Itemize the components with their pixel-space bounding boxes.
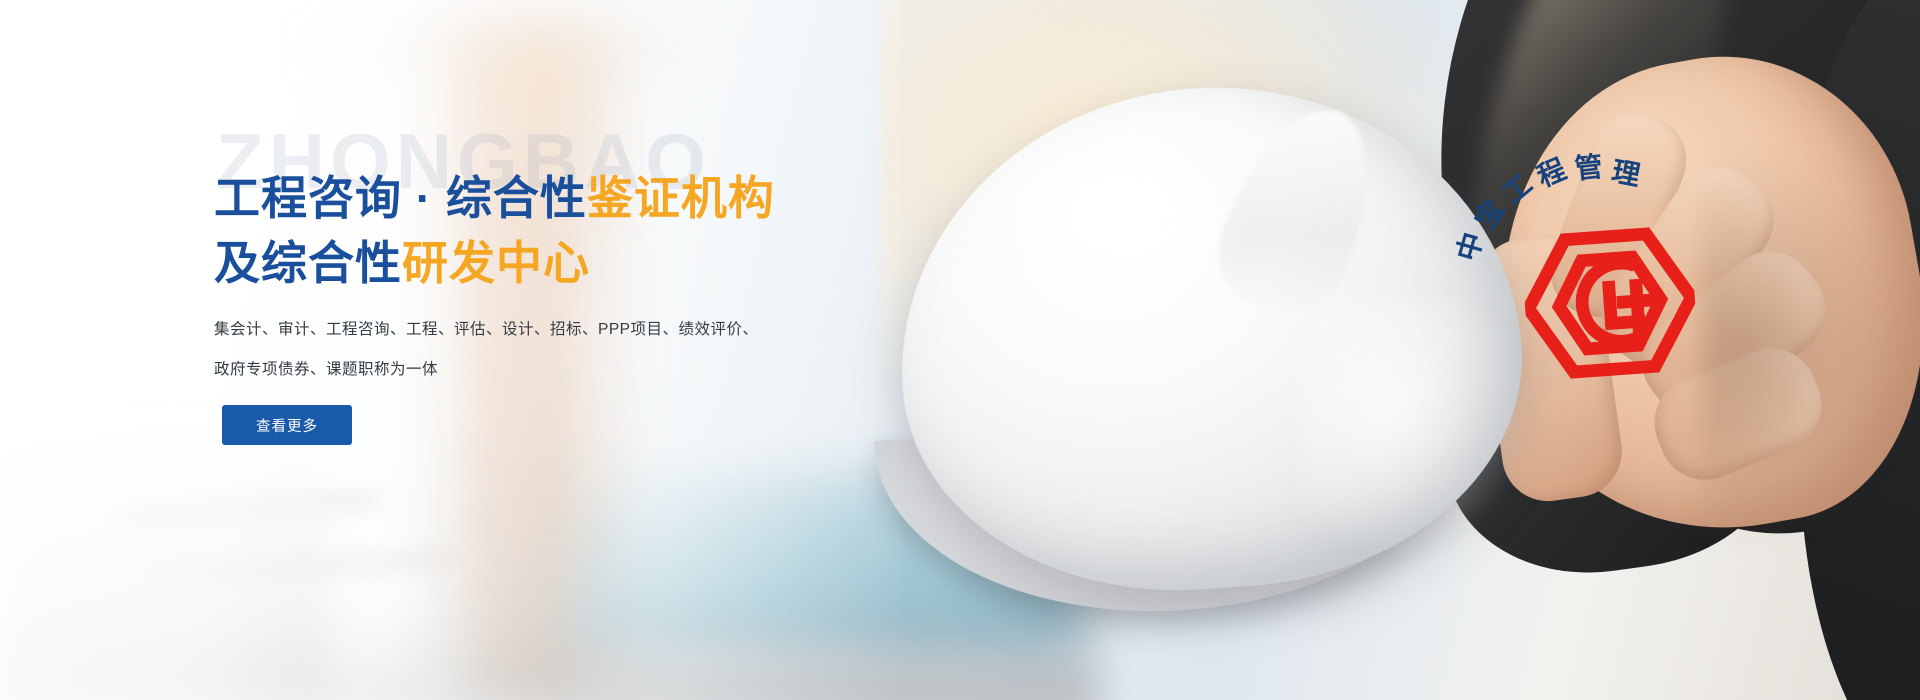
headline-line-1: 工程咨询 · 综合性鉴证机构 <box>214 166 775 231</box>
headline-line-1-primary: 工程咨询 · 综合性 <box>214 172 587 224</box>
description-line-2: 政府专项债券、课题职称为一体 <box>214 350 834 390</box>
headline-line-2-primary: 及综合性 <box>214 237 402 289</box>
banner-content: ZHONGBAO 工程咨询 · 综合性鉴证机构 及综合性研发中心 集会计、审计、… <box>0 0 1920 700</box>
headline-line-1-accent: 鉴证机构 <box>587 172 775 224</box>
headline-line-2: 及综合性研发中心 <box>214 231 775 296</box>
headline: 工程咨询 · 综合性鉴证机构 及综合性研发中心 <box>214 166 775 297</box>
description: 集会计、审计、工程咨询、工程、评估、设计、招标、PPP项目、绩效评价、 政府专项… <box>214 310 834 391</box>
view-more-button[interactable]: 查看更多 <box>222 405 352 445</box>
hero-banner: 中宝工程管理 ZHONGBAO 工程咨询 · 综合性鉴证机构 及综合性研发中心 … <box>0 0 1920 700</box>
headline-line-2-accent: 研发中心 <box>402 237 590 289</box>
description-line-1: 集会计、审计、工程咨询、工程、评估、设计、招标、PPP项目、绩效评价、 <box>214 310 834 350</box>
